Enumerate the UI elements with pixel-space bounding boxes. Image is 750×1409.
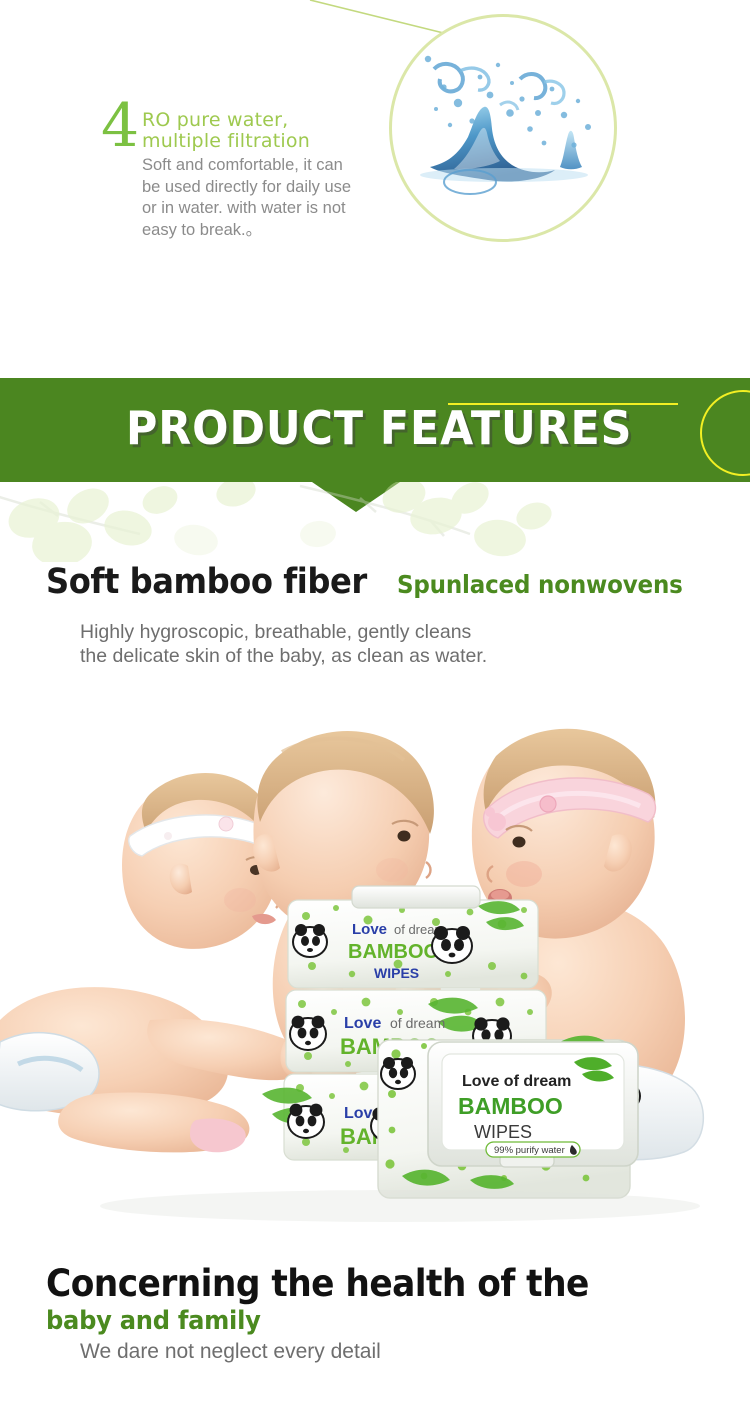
panda-icon xyxy=(290,1016,326,1050)
water-splash-circle xyxy=(389,14,617,242)
bamboo-heading: Soft bamboo fiberSpunlaced nonwovens xyxy=(46,562,707,602)
svg-text:WIPES: WIPES xyxy=(374,965,419,981)
bamboo-heading-main: Soft bamboo fiber xyxy=(46,562,367,602)
bamboo-body: Highly hygroscopic, breathable, gently c… xyxy=(80,620,487,668)
feature-title-line2: multiple filtration xyxy=(142,131,392,152)
closing-headline-line1: Concerning the health of the xyxy=(46,1262,589,1305)
babies-packs-illustration: Love of dream BAMBOO WIPES xyxy=(0,690,750,1250)
pack-front-lid: Love of dream BAMBOO WIPES 99% purify wa… xyxy=(378,1036,640,1198)
feature-title-line1: RO pure water, xyxy=(142,110,392,131)
panda-icon xyxy=(293,924,327,957)
svg-text:Love: Love xyxy=(344,1015,381,1032)
hero-photo-babies-with-packs: Love of dream BAMBOO WIPES xyxy=(0,690,750,1250)
svg-text:of dream: of dream xyxy=(390,1015,445,1031)
svg-text:Love: Love xyxy=(352,921,387,938)
bamboo-body-line1: Highly hygroscopic, breathable, gently c… xyxy=(80,620,487,644)
feature-title: RO pure water, multiple filtration xyxy=(142,110,392,152)
leaf-watermark xyxy=(0,482,750,562)
water-splash-icon xyxy=(392,17,614,239)
svg-text:BAMBOO: BAMBOO xyxy=(348,941,439,963)
leaf-branch-icon xyxy=(0,482,750,562)
panda-icon xyxy=(432,926,472,963)
feature-body-line4: easy to break.。 xyxy=(142,220,387,242)
banner-circle-decor-icon xyxy=(700,390,750,476)
svg-text:WIPES: WIPES xyxy=(474,1122,532,1142)
panda-icon xyxy=(288,1104,324,1138)
feature-body: Soft and comfortable, it can be used dir… xyxy=(142,155,387,241)
feature-body-line1: Soft and comfortable, it can xyxy=(142,155,387,177)
svg-text:BAMBOO: BAMBOO xyxy=(458,1093,563,1119)
closing-headline-line2: baby and family xyxy=(46,1306,261,1336)
panda-icon xyxy=(381,1057,415,1089)
pack-stack-top: Love of dream BAMBOO WIPES xyxy=(288,886,538,988)
bamboo-body-line2: the delicate skin of the baby, as clean … xyxy=(80,644,487,668)
bamboo-heading-sub: Spunlaced nonwovens xyxy=(397,570,683,599)
svg-text:99% purify water: 99% purify water xyxy=(494,1145,565,1156)
product-detail-page: 4 RO pure water, multiple filtration Sof… xyxy=(0,0,750,1409)
feature-body-line3: or in water. with water is not xyxy=(142,198,387,220)
closing-subtext: We dare not neglect every detail xyxy=(80,1340,381,1364)
banner-title: PRODUCT FEATURES xyxy=(126,402,632,454)
feature-body-line2: be used directly for daily use xyxy=(142,177,387,199)
feature-section-ro-water: 4 RO pure water, multiple filtration Sof… xyxy=(0,0,750,378)
feature-number: 4 xyxy=(101,96,138,156)
svg-text:Love of dream: Love of dream xyxy=(462,1073,571,1090)
